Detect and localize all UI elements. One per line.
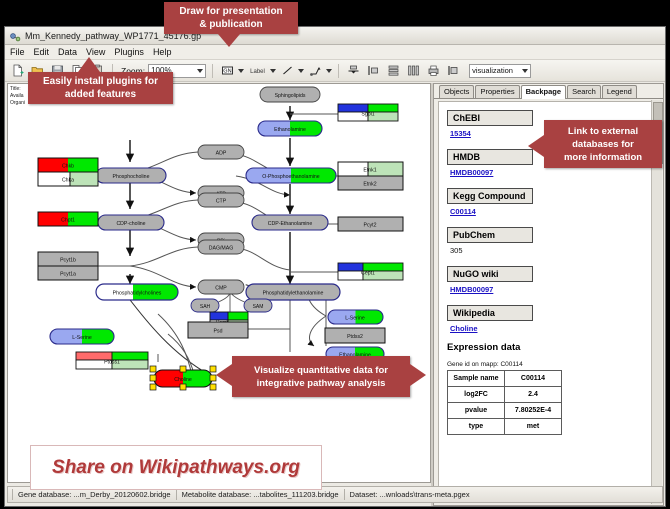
genebox-chkb-chka: Chkb Chka	[38, 158, 98, 186]
svg-text:Phosphatidylethanolamine: Phosphatidylethanolamine	[263, 291, 324, 297]
svg-text:Pcyt1b: Pcyt1b	[60, 258, 76, 264]
db-header-kegg-compound: Kegg Compound	[447, 188, 533, 204]
app-icon	[9, 30, 21, 42]
new-file-icon[interactable]	[9, 62, 26, 79]
interaction-dropdown[interactable]	[307, 62, 332, 79]
node-cdp-ethanolamine: CDP-Ethanolamine	[252, 215, 328, 230]
callout-link-line1: Link to external	[568, 125, 638, 138]
visualization-value: visualization	[472, 66, 513, 75]
callout-link-line3: more information	[564, 151, 642, 164]
db-link-hmdb[interactable]: HMDB00097	[450, 168, 644, 177]
callout-link-arrow-stem	[541, 141, 546, 151]
svg-text:Ethanolamine: Ethanolamine	[274, 127, 306, 133]
expression-table: Sample name C00114 log2FC 2.4 pvalue 7.8…	[447, 370, 562, 435]
screenshot-root: Mm_Kennedy_pathway_WP1771_45176.gp File …	[0, 0, 670, 509]
genebox-pcyt2: Pcyt2	[338, 217, 403, 231]
db-header-nugo-wiki: NuGO wiki	[447, 266, 533, 282]
tab-search[interactable]: Search	[567, 85, 601, 98]
expr-cell-value: 7.80252E-4	[505, 403, 562, 419]
menu-item-edit[interactable]: Edit	[34, 47, 50, 57]
node-sam: SAM	[244, 299, 272, 312]
genebox-cept1: Cept1	[338, 263, 403, 280]
svg-text:Phosphocholine: Phosphocholine	[113, 174, 150, 180]
label-icon[interactable]: Label	[247, 62, 268, 79]
align-left-icon[interactable]	[365, 62, 382, 79]
db-header-chebi: ChEBI	[447, 110, 533, 126]
chevron-down-icon[interactable]	[238, 69, 244, 73]
genebox-sgpl1: Sgpl1	[338, 104, 398, 121]
tab-legend[interactable]: Legend	[602, 85, 637, 98]
expression-data-heading: Expression data	[447, 342, 644, 353]
menu-item-data[interactable]: Data	[58, 47, 77, 57]
callout-visualize-line2: integrative pathway analysis	[257, 377, 386, 390]
tab-objects[interactable]: Objects	[439, 85, 474, 98]
menu-bar[interactable]: File Edit Data View Plugins Help	[5, 45, 665, 60]
toolbar-separator	[338, 64, 339, 78]
callout-easily-install-plugins: Easily install plugins for added feature…	[28, 72, 173, 104]
node-ethanolamine-top: Ethanolamine	[258, 121, 322, 136]
datanode-dropdown[interactable]: GN	[219, 62, 244, 79]
callout-draw-line1: Draw for presentation	[179, 5, 282, 18]
status-metabolite-database: Metabolite database: ...tabolites_111203…	[177, 490, 344, 499]
genebox-chpt1: Chpt1	[38, 212, 98, 226]
genebox-psd: Psd	[188, 322, 248, 338]
db-link-wikipedia[interactable]: Choline	[450, 324, 644, 333]
chevron-down-icon[interactable]	[522, 69, 528, 73]
node-o-phosphoethanolamine: O-Phosphoethanolamine	[246, 168, 336, 183]
db-header-hmdb: HMDB	[447, 149, 533, 165]
table-row: type met	[448, 419, 562, 435]
genebox-ptdss1: Ptdss1	[76, 352, 148, 369]
svg-text:L-Serine: L-Serine	[72, 335, 92, 341]
callout-draw-arrow-stem	[224, 34, 234, 39]
tab-properties[interactable]: Properties	[475, 85, 519, 98]
chevron-down-icon[interactable]	[197, 69, 203, 73]
svg-text:Ptdss2: Ptdss2	[347, 334, 363, 340]
callout-visualize-quantitative-data: Visualize quantitative data for integrat…	[232, 356, 410, 397]
print-icon[interactable]	[425, 62, 442, 79]
expr-cell-label: type	[448, 419, 505, 435]
svg-text:Chpt1: Chpt1	[61, 218, 75, 224]
db-link-nugo-wiki[interactable]: HMDB00097	[450, 285, 644, 294]
callout-draw-for-presentation: Draw for presentation & publication	[164, 2, 298, 34]
svg-text:CMP: CMP	[215, 286, 227, 292]
gene-id-on-mapp: Gene id on mapp: C00114	[447, 361, 644, 368]
db-link-kegg-compound[interactable]: C00114	[450, 207, 644, 216]
svg-text:Phosphatidylcholines: Phosphatidylcholines	[113, 291, 162, 297]
visualization-combobox[interactable]: visualization	[469, 64, 531, 78]
svg-text:L-Serine: L-Serine	[345, 316, 365, 322]
expr-cell-value: 2.4	[505, 387, 562, 403]
expr-cell-value: met	[505, 419, 562, 435]
db-value-pubchem: 305	[450, 246, 644, 255]
node-ctp: CTP	[198, 193, 244, 207]
datanode-icon[interactable]: GN	[219, 62, 236, 79]
svg-text:Ptdss1: Ptdss1	[104, 360, 120, 366]
db-header-wikipedia: Wikipedia	[447, 305, 533, 321]
side-panel-tabs[interactable]: Objects Properties Backpage Search Legen…	[434, 84, 663, 99]
line-icon[interactable]	[279, 62, 296, 79]
node-cmp: CMP	[198, 280, 244, 294]
callout-plugins-line2: added features	[65, 88, 136, 101]
svg-text:GN: GN	[223, 69, 231, 75]
status-dataset: Dataset: ...wnloads\trans-meta.pgex	[345, 490, 475, 499]
svg-text:Psd: Psd	[214, 329, 223, 335]
svg-text:SAH: SAH	[200, 304, 211, 310]
node-adp: ADP	[198, 145, 244, 159]
chevron-down-icon[interactable]	[326, 69, 332, 73]
expr-cell-label: log2FC	[448, 387, 505, 403]
menu-item-file[interactable]: File	[10, 47, 25, 57]
svg-text:Etnk1: Etnk1	[363, 168, 376, 174]
svg-text:Sphingolipids: Sphingolipids	[275, 93, 306, 99]
callout-link-line2: databases for	[572, 138, 634, 151]
distribute-icon[interactable]	[405, 62, 422, 79]
callout-visualize-arrow-right-stem	[406, 370, 411, 380]
genebox-etnk1-etnk2: Etnk1 Etnk2	[338, 162, 403, 190]
node-cdp-choline: CDP-choline	[98, 215, 164, 230]
interaction-icon[interactable]	[307, 62, 324, 79]
callout-visualize-arrow-right-icon	[410, 364, 426, 386]
callout-visualize-line1: Visualize quantitative data for	[254, 364, 388, 377]
stack-icon[interactable]	[385, 62, 402, 79]
expr-cell-value: C00114	[505, 371, 562, 387]
status-gene-database: Gene database: ...m_Derby_20120602.bridg…	[13, 490, 176, 499]
svg-text:DAG/MAG: DAG/MAG	[209, 246, 234, 252]
svg-text:CDP-Ethanolamine: CDP-Ethanolamine	[268, 221, 313, 227]
callout-share-text: Share on Wikipathways.org	[52, 457, 300, 479]
svg-text:Pcyt1a: Pcyt1a	[60, 272, 76, 278]
svg-text:ADP: ADP	[216, 151, 227, 157]
table-row: pvalue 7.80252E-4	[448, 403, 562, 419]
label-dropdown[interactable]: Label	[247, 62, 276, 79]
genebox-pcyt1b-pcyt1a: Pcyt1b Pcyt1a	[38, 252, 98, 280]
svg-text:Chka: Chka	[62, 178, 74, 184]
table-row: log2FC 2.4	[448, 387, 562, 403]
pathway-canvas[interactable]: Title: Availa Organi	[7, 83, 431, 483]
svg-text:Cept1: Cept1	[361, 271, 375, 277]
menu-item-plugins[interactable]: Plugins	[114, 47, 144, 57]
svg-text:CTP: CTP	[216, 199, 227, 205]
callout-plugins-line1: Easily install plugins for	[43, 75, 158, 88]
callout-visualize-arrow-left-stem	[229, 370, 234, 380]
node-choline-selected: Choline	[150, 366, 216, 390]
node-phosphatidylethanolamine: Phosphatidylethanolamine	[246, 284, 340, 300]
align-icon[interactable]	[345, 62, 362, 79]
svg-text:O-Phosphoethanolamine: O-Phosphoethanolamine	[262, 174, 320, 180]
menu-item-help[interactable]: Help	[153, 47, 172, 57]
chevron-down-icon[interactable]	[270, 69, 276, 73]
node-phosphocholine: Phosphocholine	[96, 168, 166, 183]
callout-link-external-databases: Link to external databases for more info…	[544, 120, 662, 168]
toolbar-separator	[212, 64, 213, 78]
svg-text:CDP-choline: CDP-choline	[116, 221, 145, 227]
genebox-ptdss2: Ptdss2	[325, 328, 385, 343]
callout-share: Share on Wikipathways.org	[30, 445, 322, 490]
node-l-serine-left: L-Serine	[50, 329, 114, 344]
order-icon[interactable]	[445, 62, 462, 79]
callout-draw-line2: & publication	[199, 18, 262, 31]
callout-plugins-arrow-stem	[84, 70, 94, 74]
node-dagmag: DAG/MAG	[198, 240, 244, 254]
svg-text:Pcyt2: Pcyt2	[364, 223, 377, 229]
node-sphingolipids: Sphingolipids	[260, 87, 320, 102]
node-l-serine-right: L-Serine	[328, 310, 383, 324]
chevron-down-icon[interactable]	[298, 69, 304, 73]
expr-cell-label: Sample name	[448, 371, 505, 387]
title-bar: Mm_Kennedy_pathway_WP1771_45176.gp	[5, 27, 665, 45]
tab-backpage[interactable]: Backpage	[521, 85, 566, 99]
svg-text:Choline: Choline	[174, 377, 192, 383]
svg-text:SAM: SAM	[253, 304, 264, 310]
node-sah: SAH	[191, 299, 219, 312]
svg-text:Chkb: Chkb	[62, 164, 74, 170]
svg-text:Etnk2: Etnk2	[363, 182, 376, 188]
pathway-graph[interactable]: Sphingolipids Choline Ethanolamine ADP A…	[8, 84, 430, 482]
db-header-pubchem: PubChem	[447, 227, 533, 243]
expr-cell-label: pvalue	[448, 403, 505, 419]
node-phosphatidylcholines: Phosphatidylcholines	[96, 284, 178, 300]
svg-text:Sgpl1: Sgpl1	[361, 112, 374, 118]
menu-item-view[interactable]: View	[86, 47, 105, 57]
line-dropdown[interactable]	[279, 62, 304, 79]
svg-text:Label: Label	[250, 69, 265, 75]
table-row: Sample name C00114	[448, 371, 562, 387]
